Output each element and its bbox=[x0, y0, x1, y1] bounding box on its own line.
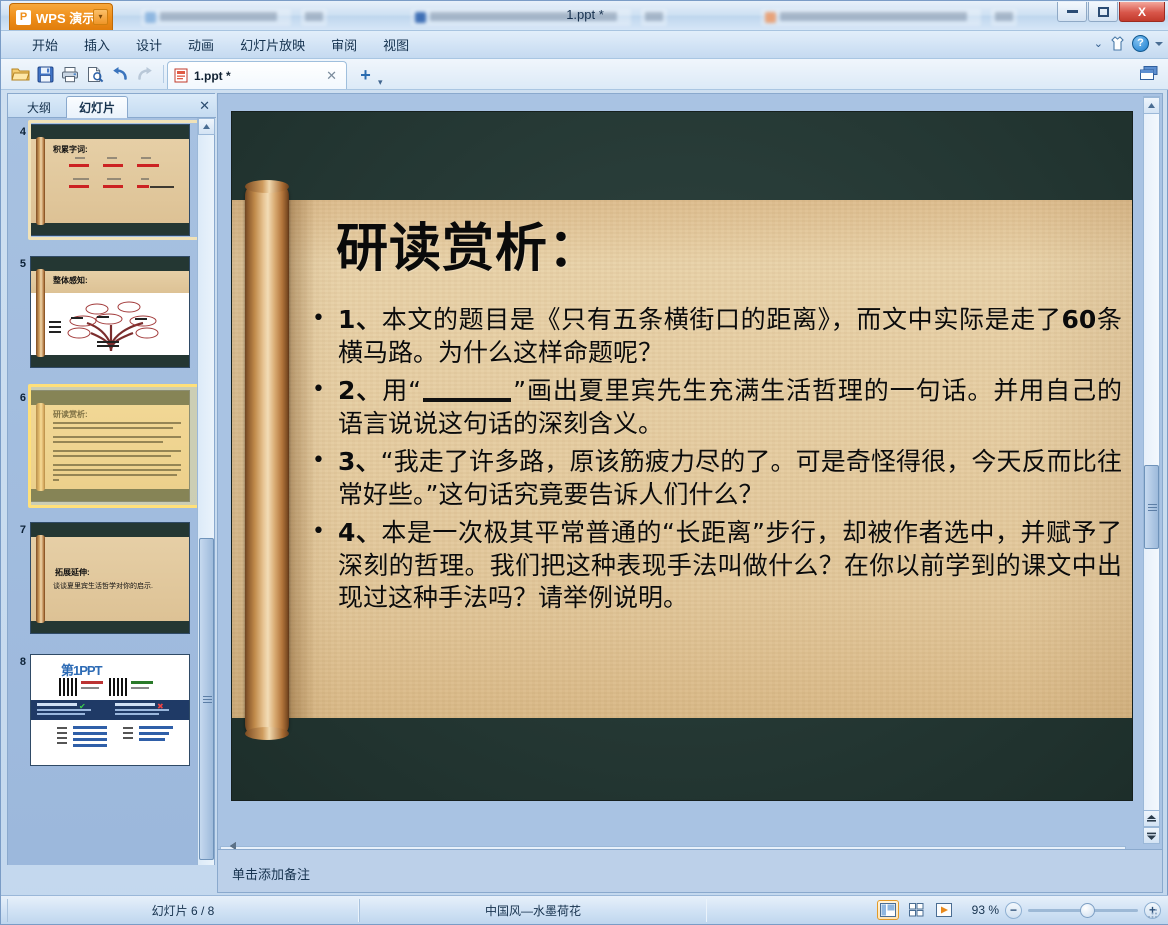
thumbnail-number: 5 bbox=[8, 256, 30, 368]
mini-title: 拓展延伸: bbox=[55, 567, 90, 578]
document-tab-label: 1.ppt * bbox=[194, 69, 318, 83]
bullet-text-pre: “我走了许多路，原该筋疲力尽的了。可是奇怪得很，今天反而比往常好些。”这句话究竟… bbox=[338, 447, 1122, 509]
slide-body-placeholder[interactable]: • 1、本文的题目是《只有五条横街口的距离》，而文中实际是走了60条横马路。为什… bbox=[312, 304, 1122, 621]
toolbar-separator bbox=[163, 65, 164, 83]
chevron-down-icon[interactable]: ▾ bbox=[378, 72, 383, 90]
qr-code-icon bbox=[59, 678, 77, 696]
chevron-down-icon[interactable] bbox=[1155, 42, 1163, 46]
theme-name: 中国风—水墨荷花 bbox=[359, 899, 707, 922]
thumbnail-preview: 整体感知: bbox=[30, 256, 190, 368]
panel-tab-bar: 大纲 幻灯片 ✕ bbox=[8, 94, 216, 118]
mini-paper bbox=[31, 537, 189, 621]
thumbnail-selected-outline bbox=[28, 384, 198, 508]
status-bar: 幻灯片 6 / 8 中国风—水墨荷花 bbox=[1, 895, 1168, 924]
slide-navigation-buttons bbox=[1143, 810, 1160, 844]
bullet-item-2: • 2、用“”画出夏里宾先生充满生活哲理的一句话。并用自己的语言说说这句话的深刻… bbox=[312, 375, 1122, 440]
bullet-text-pre: 本是一次极其平常普通的“长距离”步行，却被作者选中，并赋予了深刻的哲理。我们把这… bbox=[338, 518, 1122, 612]
slideshow-view-button[interactable] bbox=[933, 900, 955, 920]
scrollbar-thumb[interactable] bbox=[1144, 465, 1159, 549]
zoom-out-button[interactable]: − bbox=[1005, 902, 1022, 919]
slide-sorter-view-button[interactable] bbox=[905, 900, 927, 920]
notes-placeholder: 单击添加备注 bbox=[232, 867, 310, 882]
menu-item-animation[interactable]: 动画 bbox=[175, 32, 227, 57]
tab-outline[interactable]: 大纲 bbox=[14, 96, 64, 118]
slide-canvas[interactable]: 研读赏析： • 1、本文的题目是《只有五条横街口的距离》，而文中实际是走了60条… bbox=[232, 112, 1132, 800]
chevron-down-icon[interactable]: ⌄ bbox=[1094, 37, 1103, 50]
menu-item-design[interactable]: 设计 bbox=[123, 32, 175, 57]
slide-thumbnail-panel: 大纲 幻灯片 ✕ 4 积累字词: bbox=[7, 93, 215, 865]
document-tab[interactable]: 1.ppt * ✕ bbox=[167, 61, 347, 89]
scroll-up-arrow-icon[interactable] bbox=[198, 118, 215, 135]
close-icon[interactable]: ✕ bbox=[323, 68, 340, 84]
normal-view-button[interactable] bbox=[877, 900, 899, 920]
zoom-percent: 93 % bbox=[961, 903, 999, 917]
new-document-button[interactable]: + bbox=[353, 63, 378, 87]
print-preview-icon[interactable] bbox=[84, 62, 106, 86]
thumbnail-item-8[interactable]: 8 第1PPT ✔ bbox=[8, 654, 198, 766]
menu-item-insert[interactable]: 插入 bbox=[71, 32, 123, 57]
bullet-text-pre: 用“ bbox=[382, 376, 421, 405]
thumbnail-number: 6 bbox=[8, 390, 30, 502]
thumbnail-number: 4 bbox=[8, 124, 30, 236]
window-title: 1.ppt * bbox=[1, 7, 1168, 22]
zoom-controls: 93 % − + bbox=[877, 900, 1161, 920]
menu-bar-right-tools: ⌄ ? bbox=[1094, 35, 1163, 52]
thumbnail-preview: 第1PPT ✔ ✖ bbox=[30, 654, 190, 766]
skin-shirt-icon[interactable] bbox=[1109, 35, 1126, 52]
bullet-item-4: • 4、本是一次极其平常普通的“长距离”步行，却被作者选中，并赋予了深刻的哲理。… bbox=[312, 517, 1122, 615]
scrollbar-thumb[interactable] bbox=[199, 538, 214, 860]
menu-bar: 开始 插入 设计 动画 幻灯片放映 审阅 视图 ⌄ ? bbox=[1, 31, 1168, 59]
thumbnail-number: 7 bbox=[8, 522, 30, 634]
thumbnail-scrollbar[interactable] bbox=[197, 118, 214, 865]
notes-pane[interactable]: 单击添加备注 bbox=[217, 849, 1163, 893]
slide-title[interactable]: 研读赏析： bbox=[336, 222, 1076, 277]
menu-item-view[interactable]: 视图 bbox=[370, 32, 422, 57]
redo-icon[interactable] bbox=[134, 62, 156, 86]
mini-body-line: 谈谈夏里宾生活哲学对你的启示. bbox=[53, 581, 153, 591]
tab-slides[interactable]: 幻灯片 bbox=[66, 96, 128, 118]
zoom-slider[interactable] bbox=[1028, 909, 1138, 912]
thumbnail-number: 8 bbox=[8, 654, 30, 766]
scroll-up-arrow-icon[interactable] bbox=[1143, 97, 1160, 114]
bullet-item-3: • 3、“我走了许多路，原该筋疲力尽的了。可是奇怪得很，今天反而比往常好些。”这… bbox=[312, 446, 1122, 511]
toolbar-icon-group: ▾ bbox=[9, 62, 193, 86]
bullet-emphasis: 60 bbox=[1062, 305, 1097, 334]
wps-presentation-window: P WPS 演示 ▾ 1.ppt * X 开始 插入 bbox=[0, 0, 1168, 925]
menu-item-start[interactable]: 开始 bbox=[19, 32, 71, 57]
scroll-roller bbox=[245, 186, 289, 734]
presentation-file-icon bbox=[174, 68, 189, 83]
mini-tree-diagram bbox=[47, 295, 179, 353]
fill-in-blank-line bbox=[423, 398, 511, 402]
save-icon[interactable] bbox=[34, 62, 56, 86]
undo-icon[interactable] bbox=[109, 62, 131, 86]
bullet-glyph: • bbox=[312, 446, 326, 511]
bullet-text-post: ”画出夏里宾先生充满生活哲理的一句话。并用自己的语言说说这句话的深刻含义。 bbox=[338, 376, 1122, 438]
quick-access-toolbar: ▾ 1.ppt * ✕ + ▾ bbox=[1, 59, 1168, 90]
slide-counter: 幻灯片 6 / 8 bbox=[7, 899, 359, 922]
roller-cap-top bbox=[245, 180, 289, 193]
bullet-text: 2、用“”画出夏里宾先生充满生活哲理的一句话。并用自己的语言说说这句话的深刻含义… bbox=[338, 375, 1122, 440]
open-icon[interactable] bbox=[9, 62, 31, 86]
bullet-text: 4、本是一次极其平常普通的“长距离”步行，却被作者选中，并赋予了深刻的哲理。我们… bbox=[338, 517, 1122, 615]
resize-grip-icon[interactable] bbox=[1147, 906, 1159, 918]
thumbnail-item-5[interactable]: 5 整体感知: bbox=[8, 256, 198, 368]
bullet-glyph: • bbox=[312, 375, 326, 440]
mini-brand-band: ✔ ✖ bbox=[31, 700, 190, 720]
mini-brand-title: 第1PPT bbox=[61, 660, 102, 679]
bullet-number: 4、 bbox=[338, 518, 381, 547]
bullet-glyph: • bbox=[312, 304, 326, 369]
slide-vertical-scrollbar[interactable] bbox=[1143, 96, 1160, 840]
mini-scroll-roller bbox=[36, 535, 45, 623]
help-icon[interactable]: ? bbox=[1132, 35, 1149, 52]
qr-code-icon bbox=[109, 678, 127, 696]
bullet-text: 3、“我走了许多路，原该筋疲力尽的了。可是奇怪得很，今天反而比往常好些。”这句话… bbox=[338, 446, 1122, 511]
bullet-number: 1、 bbox=[338, 305, 382, 334]
bullet-number: 3、 bbox=[338, 447, 381, 476]
bullet-glyph: • bbox=[312, 517, 326, 615]
thumbnail-item-7[interactable]: 7 拓展延伸: 谈谈夏里宾生活哲学对你的启示. bbox=[8, 522, 198, 634]
thumbnail-preview: 拓展延伸: 谈谈夏里宾生活哲学对你的启示. bbox=[30, 522, 190, 634]
thumbnail-outline bbox=[28, 120, 198, 240]
bullet-text-pre: 本文的题目是《只有五条横街口的距离》，而文中实际是走了 bbox=[382, 305, 1062, 334]
title-bar: P WPS 演示 ▾ 1.ppt * X bbox=[1, 1, 1168, 31]
slide-editor-area: 研读赏析： • 1、本文的题目是《只有五条横街口的距离》，而文中实际是走了60条… bbox=[217, 93, 1163, 865]
bullet-number: 2、 bbox=[338, 376, 382, 405]
bullet-text: 1、本文的题目是《只有五条横街口的距离》，而文中实际是走了60条横马路。为什么这… bbox=[338, 304, 1122, 369]
mini-title: 整体感知: bbox=[53, 275, 88, 286]
menu-item-slideshow[interactable]: 幻灯片放映 bbox=[227, 32, 318, 57]
print-icon[interactable] bbox=[59, 62, 81, 86]
thumbnail-list: 4 积累字词: bbox=[8, 118, 198, 865]
zoom-slider-handle[interactable] bbox=[1080, 903, 1095, 918]
roller-cap-bottom bbox=[245, 727, 289, 740]
mini-scroll-roller bbox=[36, 269, 45, 357]
menu-item-review[interactable]: 审阅 bbox=[318, 32, 370, 57]
restore-layout-icon[interactable] bbox=[1139, 65, 1159, 87]
close-panel-icon[interactable]: ✕ bbox=[199, 98, 210, 114]
bullet-item-1: • 1、本文的题目是《只有五条横街口的距离》，而文中实际是走了60条横马路。为什… bbox=[312, 304, 1122, 369]
previous-slide-button[interactable] bbox=[1143, 810, 1160, 827]
